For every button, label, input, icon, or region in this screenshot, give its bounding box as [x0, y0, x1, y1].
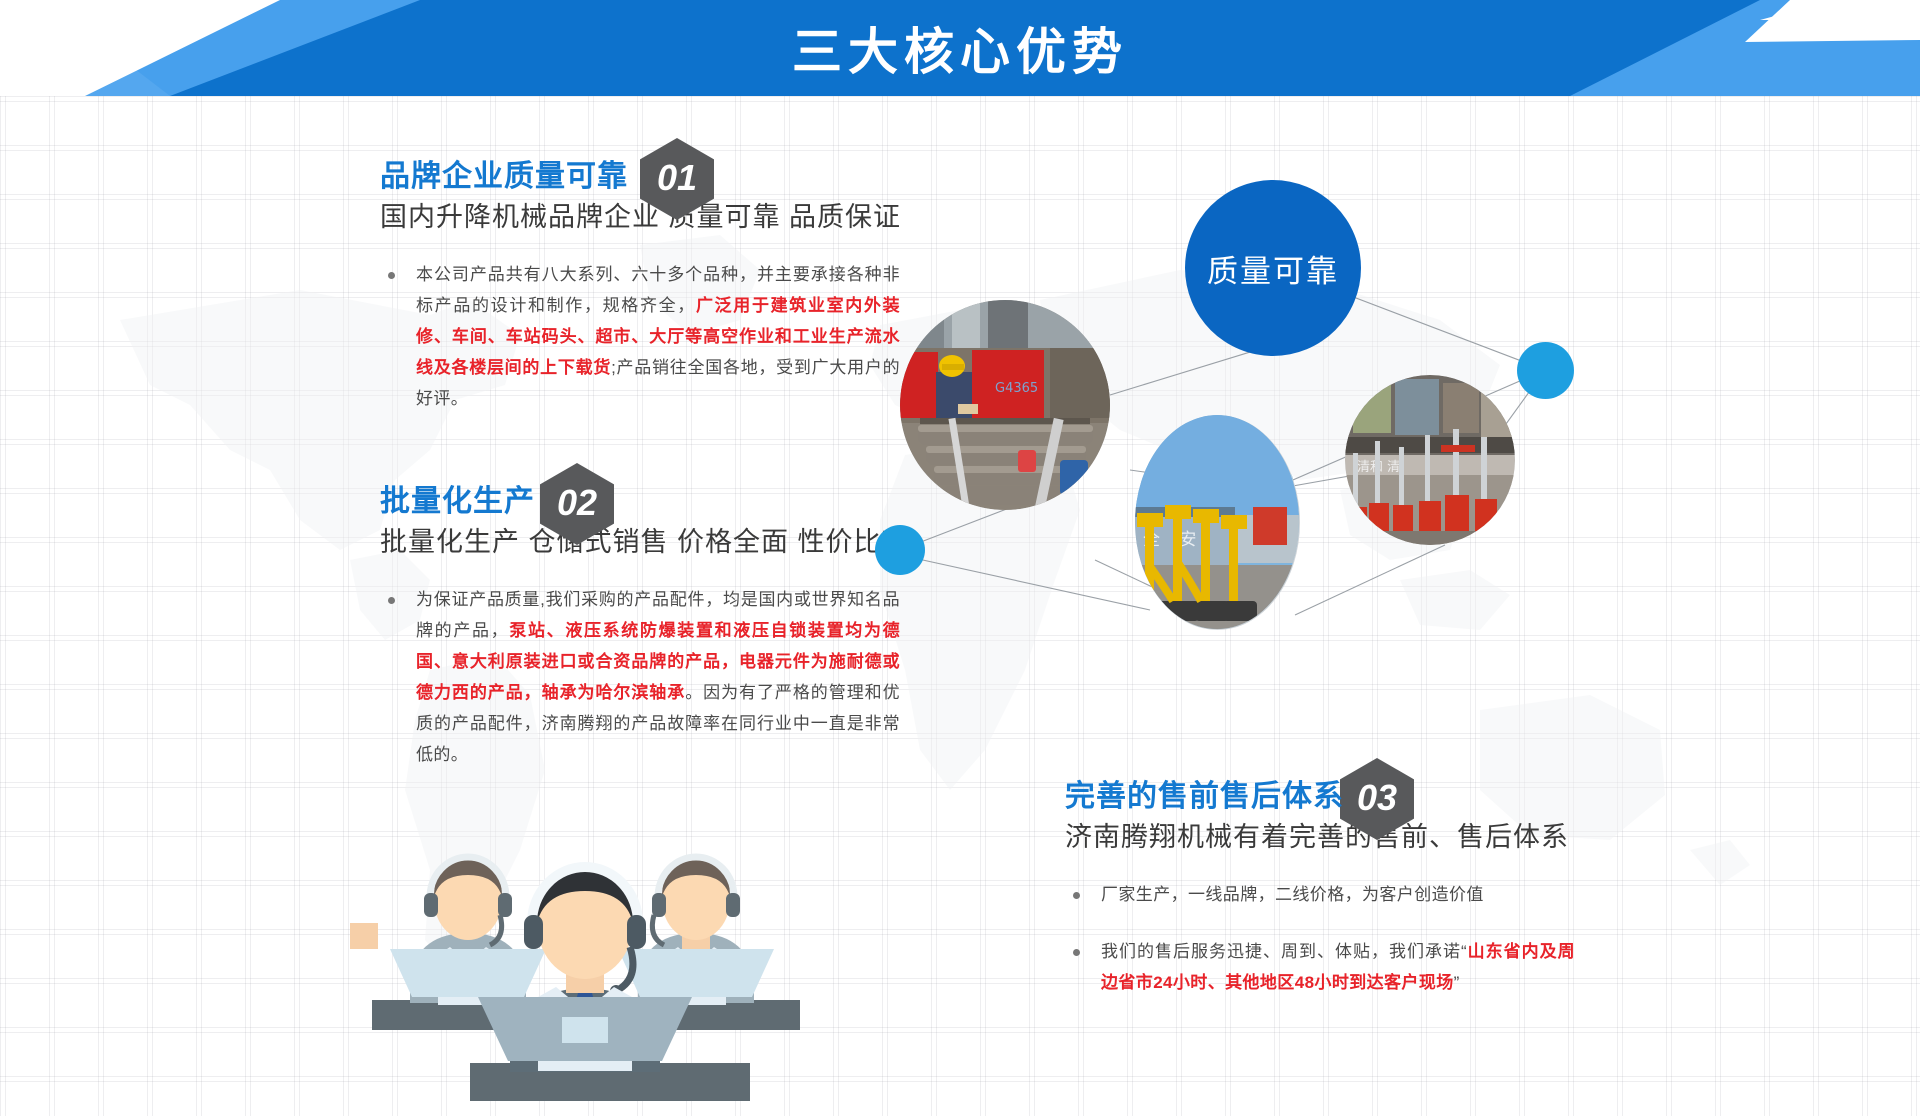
feature-block-02: 02 批量化生产 批量化生产 仓储式销售 价格全面 性价比高 为保证产品质量,我… [380, 485, 900, 770]
list-item: 厂家生产，一线品牌，二线价格，为客户创造价值 [1065, 879, 1575, 910]
network-diagram: 质量可靠 G4365 [880, 170, 1580, 630]
network-dot-top-right [1517, 342, 1574, 399]
factory-worker-photo: G4365 [900, 300, 1110, 510]
feature-subtitle-01: 国内升降机械品牌企业 质量可靠 品质保证 [380, 201, 901, 233]
list-item: 我们的售后服务迅捷、周到、体贴，我们承诺“山东省内及周边省市24小时、其他地区4… [1065, 936, 1575, 998]
feature-01-heading: 01 品牌企业质量可靠 国内升降机械品牌企业 质量可靠 品质保证 [380, 160, 901, 233]
feature-03-heading: 03 完善的售前售后体系 济南腾翔机械有着完善的售前、售后体系 [1065, 780, 1569, 853]
feature-02-heading: 02 批量化生产 批量化生产 仓储式销售 价格全面 性价比高 [380, 485, 910, 558]
feature-block-03: 03 完善的售前售后体系 济南腾翔机械有着完善的售前、售后体系 厂家生产，一线品… [1065, 780, 1575, 998]
feature-01-bullet-list: 本公司产品共有八大系列、六十多个品种，并主要承接各种非标产品的设计和制作，规格齐… [380, 259, 900, 414]
network-dot-bottom-left [875, 525, 925, 575]
feature-02-bullet-list: 为保证产品质量,我们采购的产品配件，均是国内或世界知名品牌的产品，泵站、液压系统… [380, 584, 900, 770]
feature-title-01: 品牌企业质量可靠 [380, 160, 901, 195]
feature-title-03: 完善的售前售后体系 [1065, 780, 1569, 815]
yard-lifts-photo: 全 安 [1135, 415, 1300, 630]
feature-block-01: 01 品牌企业质量可靠 国内升降机械品牌企业 质量可靠 品质保证 本公司产品共有… [380, 160, 900, 414]
feature-subtitle-02: 批量化生产 仓储式销售 价格全面 性价比高 [380, 526, 910, 558]
feature-title-02: 批量化生产 [380, 485, 910, 520]
page-title: 三大核心优势 [0, 0, 1920, 96]
list-item: 本公司产品共有八大系列、六十多个品种，并主要承接各种非标产品的设计和制作，规格齐… [380, 259, 900, 414]
call-center-agents [350, 775, 820, 1116]
network-center-label: 质量可靠 [1207, 246, 1339, 291]
feature-subtitle-03: 济南腾翔机械有着完善的售前、售后体系 [1065, 821, 1569, 853]
svg-text:G4365: G4365 [995, 381, 1038, 396]
list-item: 为保证产品质量,我们采购的产品配件，均是国内或世界知名品牌的产品，泵站、液压系统… [380, 584, 900, 770]
feature-03-bullet-list: 厂家生产，一线品牌，二线价格，为客户创造价值 我们的售后服务迅捷、周到、体贴，我… [1065, 879, 1575, 998]
storefront-lifts-photo: 清和 清 [1345, 375, 1515, 545]
network-center-node: 质量可靠 [1185, 180, 1361, 356]
